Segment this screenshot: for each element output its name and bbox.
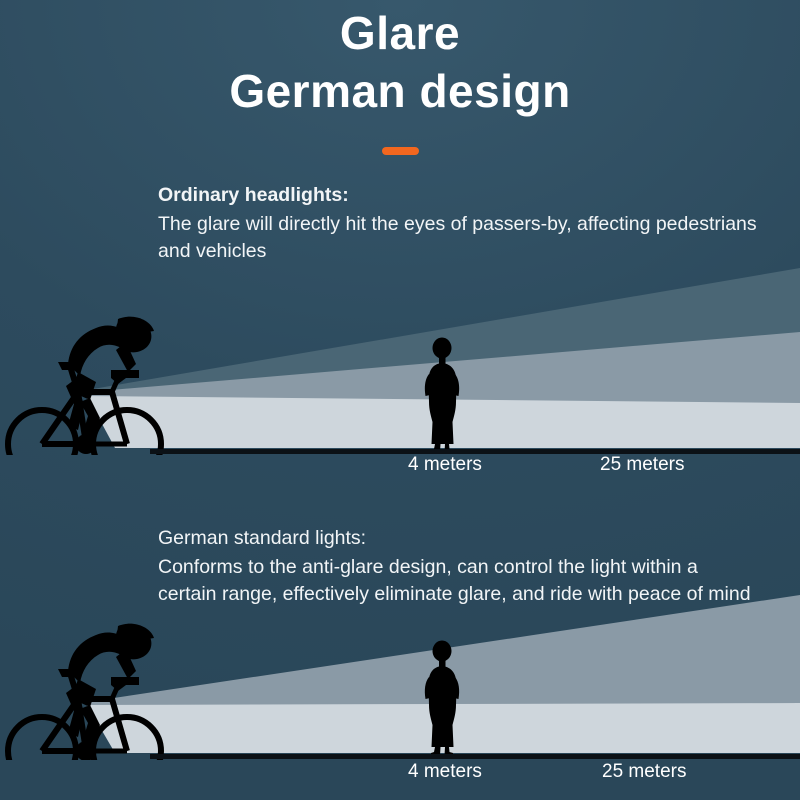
distance-label-25m-german: 25 meters	[602, 761, 686, 783]
german-standard-light-diagram	[0, 585, 800, 760]
title-line-glare: Glare	[0, 8, 800, 60]
accent-divider-bar	[382, 147, 419, 155]
ordinary-headlights-heading: Ordinary headlights:	[158, 182, 758, 210]
distance-label-25m-ordinary: 25 meters	[600, 454, 684, 476]
german-standard-lights-heading: German standard lights:	[158, 525, 758, 553]
distance-label-4m-ordinary: 4 meters	[408, 454, 482, 476]
ground-line-german	[150, 754, 800, 759]
page-title: Glare German design	[0, 8, 800, 117]
ordinary-headlight-diagram	[0, 240, 800, 455]
distance-label-4m-german: 4 meters	[408, 761, 482, 783]
title-line-german-design: German design	[0, 66, 800, 118]
infographic-poster: Glare German design Ordinary headlights:…	[0, 0, 800, 800]
